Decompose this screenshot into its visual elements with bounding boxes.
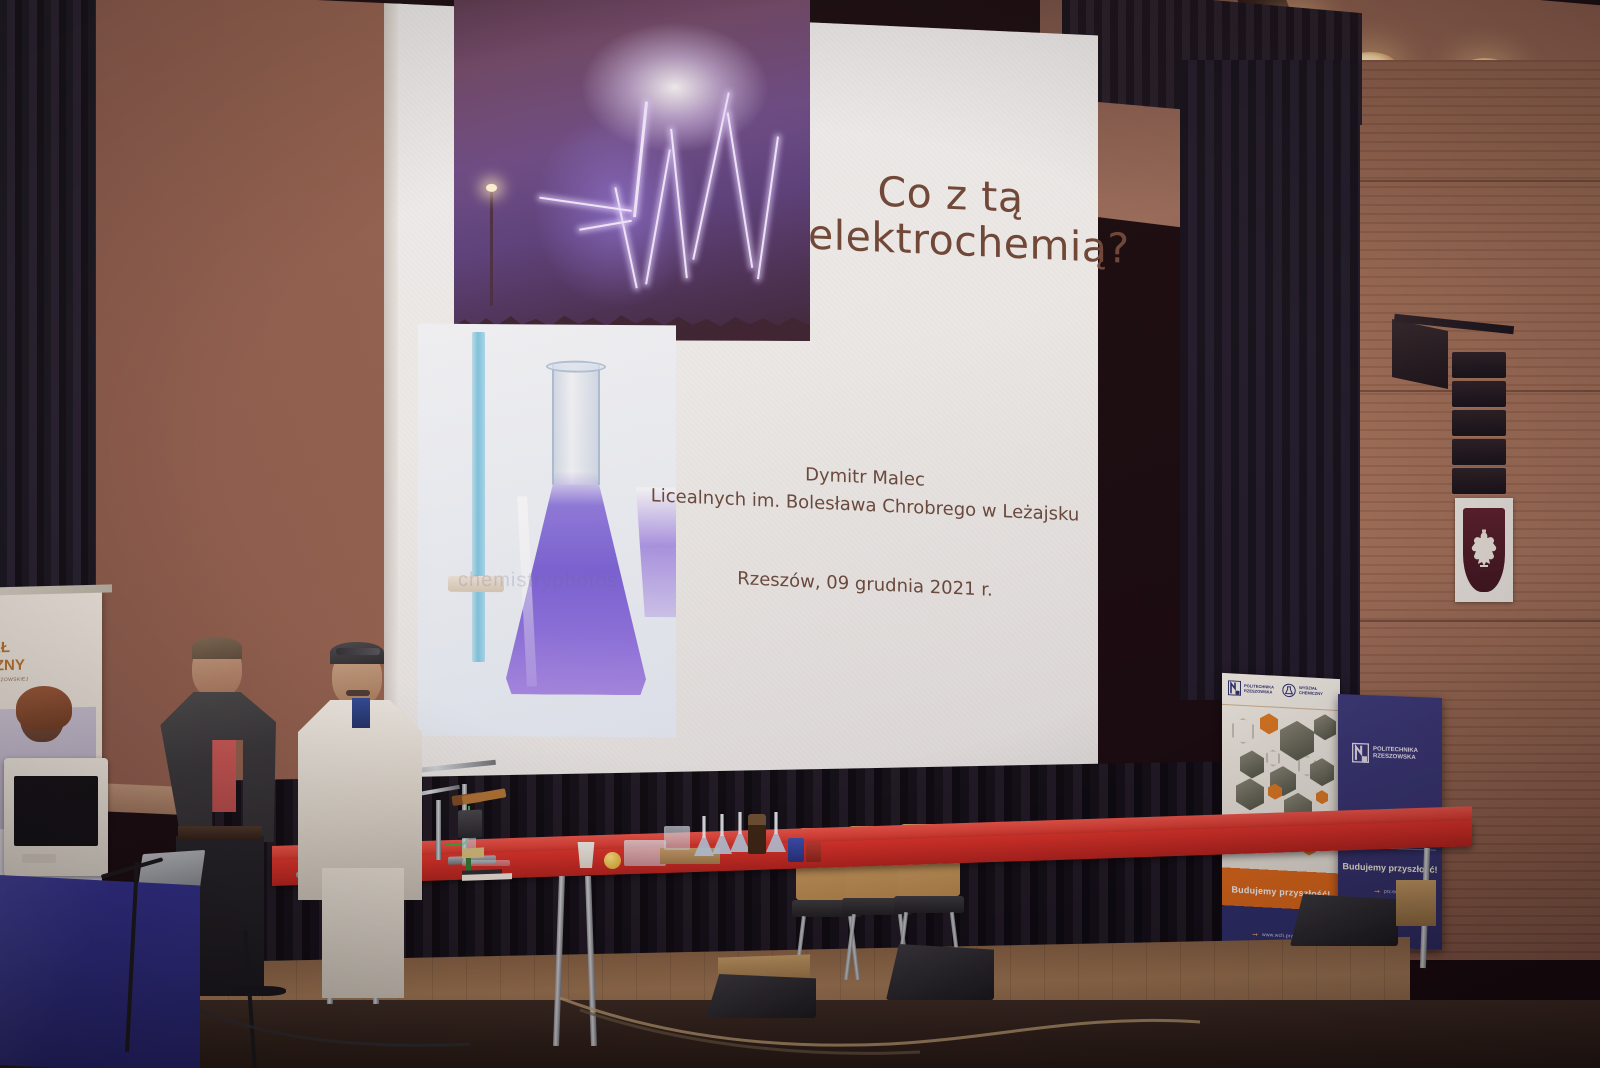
speaker-module (1452, 468, 1506, 494)
presentation-photo-scene: chemistryphotos Co z tą elektrochemią? D… (0, 0, 1600, 1068)
lightning-bolt (645, 150, 671, 285)
banner-left-top-rail (0, 584, 112, 595)
lightning-bolt (633, 101, 648, 217)
banner-prz-name: POLITECHNIKA RZESZOWSKA (1244, 684, 1274, 695)
arrow-right-icon: ➞ (1374, 887, 1380, 895)
floor-cables (560, 980, 1260, 1068)
speaker-wall-mount (1392, 319, 1448, 389)
emblem-shield (1463, 508, 1505, 592)
slide-title: Co z tą elektrochemią? (808, 166, 1093, 271)
slide-content: chemistryphotos Co z tą elektrochemią? D… (398, 0, 1098, 820)
slide-author-block: Dymitr Malec Licealnych im. Bolesława Ch… (650, 454, 1080, 529)
lightning-bolt (757, 136, 779, 278)
speaker-module (1452, 410, 1506, 436)
polish-coat-of-arms (1455, 498, 1513, 602)
av-monitor (4, 758, 108, 876)
line-array-speaker (1452, 352, 1508, 502)
lab-coat-lower (322, 868, 404, 998)
prz-logo-icon (1352, 743, 1369, 764)
lightning-storm-photo (454, 0, 810, 341)
banner-left-line2: CZNY (0, 657, 25, 675)
av-monitor-screen (14, 776, 98, 846)
yellow-ball (604, 852, 621, 869)
hex-outline (1232, 717, 1254, 744)
hex-photo (1280, 720, 1314, 762)
wooden-riser (1396, 880, 1436, 926)
slide-title-line2: elektrochemią? (808, 212, 1093, 271)
wch-logo-group: WYDZIAŁ CHEMICZNY (1282, 683, 1323, 699)
banner-left-line3: RZESZOWSKIEJ (0, 677, 29, 684)
stage-monitor-speaker (1290, 894, 1398, 946)
burette-icon (472, 332, 485, 662)
person-belt (178, 826, 262, 840)
arrow-right-icon: ➞ (1252, 930, 1258, 938)
glasses-icon (336, 648, 380, 655)
photo-watermark: chemistryphotos (458, 569, 658, 593)
flask-logo-icon (1282, 683, 1296, 698)
hex-photo (1240, 750, 1264, 779)
hex-accent (1260, 713, 1278, 735)
sample-dish (462, 847, 484, 858)
mic-stand-base (232, 986, 286, 996)
person-hair (192, 637, 242, 659)
reagent-bottle (748, 814, 766, 854)
speaker-module (1452, 381, 1506, 407)
banner-left-line1: AŁ (0, 639, 10, 657)
beaker (664, 826, 690, 850)
speaker-module (1452, 352, 1506, 378)
wall-seam (1330, 180, 1600, 182)
av-monitor-label (22, 854, 56, 863)
lightning-bolt (727, 112, 754, 268)
dark-panel (458, 810, 482, 839)
white-eagle-icon (1469, 528, 1499, 572)
flask-lip (546, 360, 606, 372)
hex-photo (1236, 778, 1264, 811)
banner-wch-name: WYDZIAŁ CHEMICZNY (1299, 686, 1323, 696)
blue-reagent-bottle (788, 838, 804, 862)
banner-logo-row: POLITECHNIKA RZESZOWSKA WYDZIAŁ CHEMICZN… (1222, 673, 1340, 711)
lightning-bolt (693, 93, 731, 261)
person-moustache (346, 690, 370, 696)
hex-accent (1316, 790, 1328, 805)
flask-neck (552, 365, 600, 485)
prz-logo-icon (1228, 680, 1241, 696)
stage-curtain-right (1180, 60, 1360, 700)
ring-stand-rod (436, 800, 441, 860)
slide-place-date: Rzeszów, 09 grudnia 2021 r. (650, 564, 1080, 605)
banner-right-name: POLITECHNIKA RZESZOWSKA (1373, 746, 1418, 762)
red-reagent-bottle (806, 842, 821, 862)
hex-photo (1314, 714, 1336, 741)
flask-graphic (506, 364, 646, 695)
speaker-module (1452, 439, 1506, 465)
prz-logo-group: POLITECHNIKA RZESZOWSKA (1228, 680, 1274, 697)
streetlamp-icon (490, 189, 493, 305)
person-tie (352, 698, 370, 728)
prz-logo-group-right: POLITECHNIKA RZESZOWSKA (1352, 743, 1418, 766)
chair-seat (894, 896, 964, 913)
wall-seam (1330, 620, 1600, 622)
stage-curtain-left (0, 0, 98, 620)
hex-outline (1266, 749, 1280, 767)
floor-cables-left (190, 1000, 490, 1068)
av-desk-blue-cloth (0, 874, 200, 1068)
erlenmeyer-flask-photo: chemistryphotos (418, 324, 676, 738)
lightning-bolt (670, 129, 688, 279)
person-hair (16, 686, 72, 730)
